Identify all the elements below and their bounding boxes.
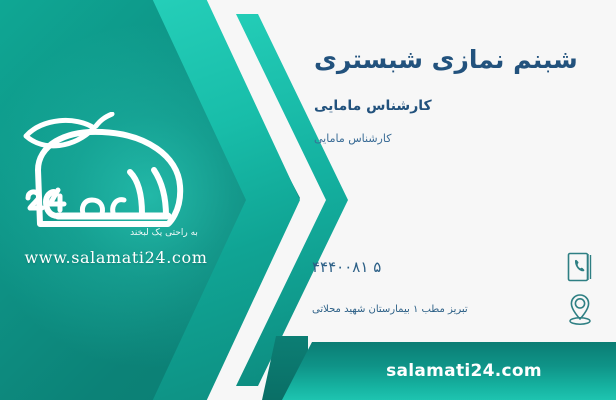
brand-logo: به راحتی یک لبخند www.salamati24.com (18, 112, 214, 272)
info-panel: شبنم نمازی شبستری کارشناس مامایی کارشناس… (300, 0, 616, 400)
footer-bar: salamati24.com (282, 342, 616, 400)
person-name: شبنم نمازی شبستری (314, 44, 594, 75)
specialty-subtitle: کارشناس مامایی (314, 132, 594, 145)
map-pin-icon (560, 288, 600, 330)
footer-website[interactable]: salamati24.com (312, 342, 616, 400)
phone-book-icon (560, 246, 600, 288)
contact-row-address[interactable]: تبریز مطب ۱ بیمارستان شهید محلاتی (308, 288, 600, 330)
contact-row-phone[interactable]: ۵ ۴۴۴۰۰۸۱ (308, 246, 600, 288)
business-card: به راحتی یک لبخند www.salamati24.com شبن… (0, 0, 616, 400)
logo-website-url: www.salamati24.com (18, 248, 214, 267)
address-text: تبریز مطب ۱ بیمارستان شهید محلاتی (308, 304, 560, 315)
job-title: کارشناس مامایی (314, 98, 594, 114)
phone-number: ۵ ۴۴۴۰۰۸۱ (308, 258, 560, 276)
apple-leaf-logo-icon (18, 112, 214, 246)
logo-tagline: به راحتی یک لبخند (114, 228, 214, 238)
